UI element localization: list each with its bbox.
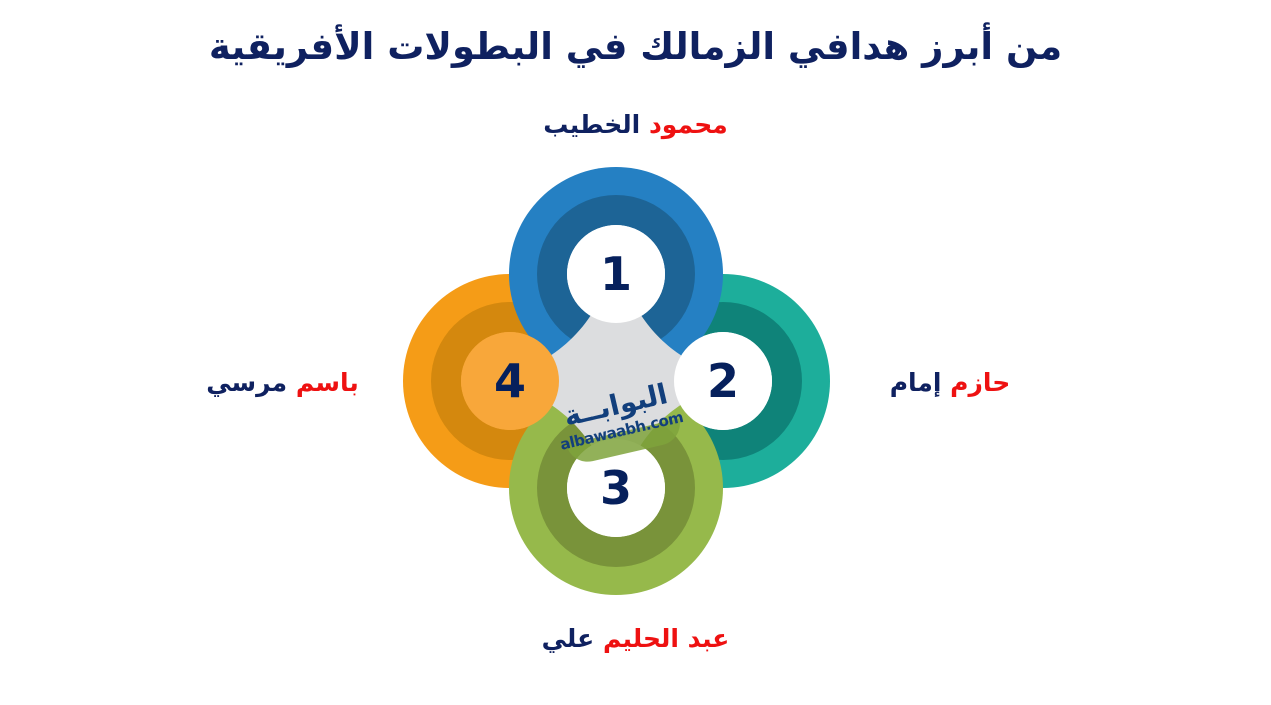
petal-number-3: 3 <box>600 461 632 515</box>
petal-number-1: 1 <box>600 247 632 301</box>
petal-number-2: 2 <box>707 354 739 408</box>
petal-label-right: حازم إمام <box>860 368 1040 398</box>
petal-label-bottom: عبد الحليم علي <box>0 624 1271 654</box>
petal-label-left-rest: مرسي <box>206 368 287 397</box>
petal-label-right-rest: إمام <box>890 368 942 397</box>
petal-label-top-highlight: محمود <box>649 110 728 139</box>
petal-label-top-rest: الخطيب <box>543 110 640 139</box>
petal-label-left: باسم مرسي <box>185 368 380 398</box>
petal-label-bottom-rest: علي <box>542 624 595 653</box>
petal-diagram: 1 2 3 4 <box>386 166 846 596</box>
infographic-canvas: من أبرز هدافي الزمالك في البطولات الأفري… <box>0 0 1271 705</box>
petal-number-4: 4 <box>494 354 526 408</box>
petal-label-top: محمود الخطيب <box>0 110 1271 140</box>
petal-label-bottom-highlight: عبد الحليم <box>603 624 729 653</box>
page-title: من أبرز هدافي الزمالك في البطولات الأفري… <box>0 24 1271 70</box>
petal-label-right-highlight: حازم <box>950 368 1010 397</box>
petal-label-left-highlight: باسم <box>296 368 359 397</box>
